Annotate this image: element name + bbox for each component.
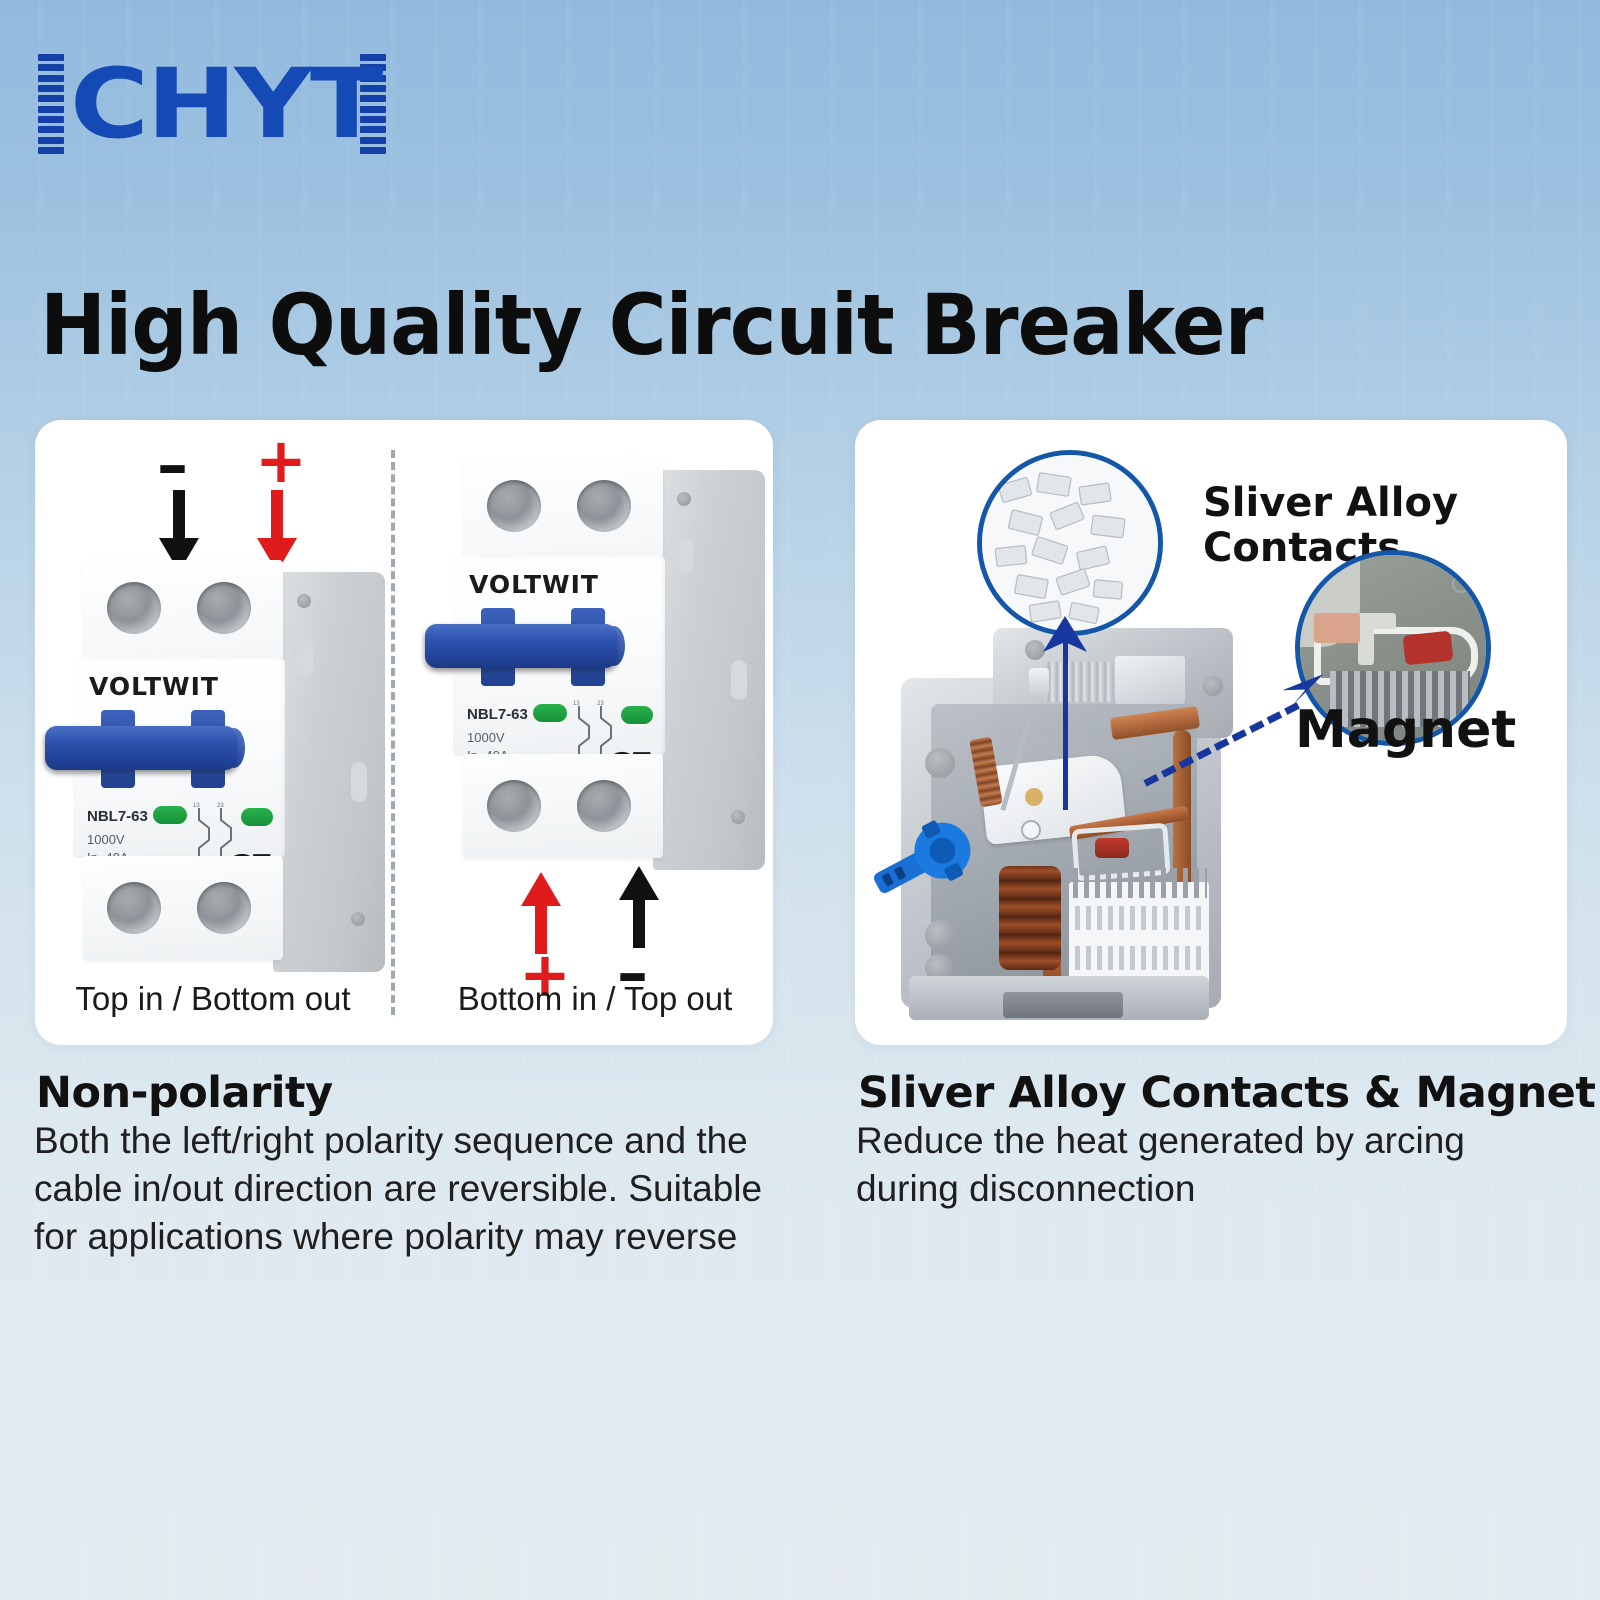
housing-boss-1 [925, 748, 955, 778]
status-indicator-2-1 [533, 704, 567, 722]
breaker-side-body [273, 572, 385, 972]
blue-terminal-knob [867, 820, 987, 900]
side-screw-bottom [351, 912, 365, 926]
terminal-hole-bottom-2-1 [487, 780, 541, 832]
mechanism-pin-1 [1025, 788, 1043, 806]
feature-title-contacts-magnet: Sliver Alloy Contacts & Magnet [858, 1068, 1595, 1118]
arc-chute-fins [1073, 868, 1207, 898]
magnet-leader-arrowhead [1283, 670, 1331, 714]
terminal-hole-top-1 [107, 582, 161, 634]
housing-boss-5 [1203, 676, 1223, 696]
thermal-coil [999, 866, 1061, 970]
breaker-model: NBL7-63 [87, 808, 148, 825]
breaker-voltage: 1000V [87, 832, 125, 847]
side-screw-top [297, 594, 311, 608]
caption-top-in-bottom-out: Top in / Bottom out [35, 980, 391, 1018]
breaker-device-left: VOLTWIT NBL7-63 1000V In=40A Icu=10kA IE… [45, 550, 395, 990]
svg-text:13: 13 [573, 701, 580, 707]
side-slot-bottom [351, 762, 367, 802]
svg-text:13: 13 [193, 803, 200, 809]
contacts-magnet-card: Sliver Alloy Contacts Magnet [855, 420, 1567, 1045]
solenoid-plunger [1045, 662, 1113, 702]
mechanism-pin-2 [1021, 820, 1041, 840]
din-rail-clip [1003, 992, 1123, 1018]
side-slot-top-2 [677, 538, 693, 574]
solenoid-block [1115, 656, 1185, 704]
logo-left-bars [38, 54, 64, 154]
housing-boss-2 [925, 920, 955, 950]
silver-contact-pad [1095, 838, 1129, 858]
breaker-brand-label-2: VOLTWIT [469, 570, 599, 599]
plus-symbol-top: + [255, 430, 307, 492]
terminal-hole-bottom-2 [197, 882, 251, 934]
terminal-hole-bottom-2-2 [577, 780, 631, 832]
side-screw-top-2 [677, 492, 691, 506]
feature-body-non-polarity: Both the left/right polarity sequence an… [34, 1117, 794, 1261]
status-indicator-1 [153, 806, 187, 824]
side-slot-top [297, 640, 313, 676]
terminal-hole-top-2-1 [487, 480, 541, 532]
breaker-model-2: NBL7-63 [467, 706, 528, 723]
non-polarity-card: – + VOLTWIT NBL7-63 1000V In=40A [35, 420, 773, 1045]
arc-chute-slots-2 [1075, 946, 1205, 970]
minus-symbol-top: – [157, 434, 188, 496]
breaker-side-body-2 [653, 470, 765, 870]
sliver-alloy-label-line1: Sliver Alloy [1203, 480, 1458, 526]
status-indicator-2-2 [621, 706, 653, 724]
brand-logo: CHYT [38, 52, 386, 156]
breaker-lever-front[interactable] [45, 726, 237, 770]
side-screw-bottom-2 [731, 810, 745, 824]
page-title: High Quality Circuit Breaker [40, 282, 1263, 368]
feature-title-non-polarity: Non-polarity [36, 1068, 333, 1118]
solenoid-cap [1029, 668, 1049, 696]
logo-wordmark: CHYT [70, 56, 381, 152]
caption-bottom-in-top-out: Bottom in / Top out [417, 980, 773, 1018]
status-indicator-2 [241, 808, 273, 826]
terminal-hole-bottom-1 [107, 882, 161, 934]
breaker-lever-front-2[interactable] [425, 624, 617, 668]
feature-body-contacts-magnet: Reduce the heat generated by arcing duri… [856, 1117, 1536, 1213]
breaker-voltage-2: 1000V [467, 730, 505, 745]
sliver-alloy-contacts-photo [977, 450, 1163, 636]
terminal-hole-top-2 [197, 582, 251, 634]
side-slot-bottom-2 [731, 660, 747, 700]
terminal-hole-top-2-2 [577, 480, 631, 532]
breaker-internal-cutaway [873, 620, 1293, 1020]
breaker-brand-label: VOLTWIT [89, 672, 219, 701]
arc-chute-slots-1 [1075, 906, 1205, 930]
contacts-leader-arrowhead [1041, 616, 1089, 656]
breaker-device-right: VOLTWIT NBL7-63 1000V In=40A Icu=10kA IE… [425, 448, 775, 888]
svg-text:23: 23 [217, 803, 224, 809]
svg-text:23: 23 [597, 701, 604, 707]
